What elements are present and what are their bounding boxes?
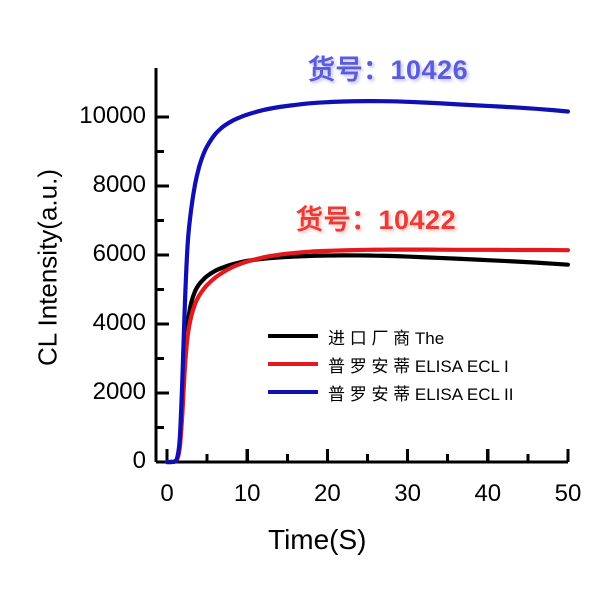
y-tick-label: 2000 — [46, 378, 146, 406]
y-tick-label: 0 — [46, 447, 146, 475]
chart-figure: CL Intensity(a.u.) Time(S) 0200040006000… — [0, 0, 600, 600]
x-tick-label: 40 — [458, 480, 518, 508]
x-tick-label: 20 — [297, 480, 357, 508]
x-tick-label: 30 — [378, 480, 438, 508]
legend-item-2: 普 罗 安 蒂 ELISA ECL I — [268, 350, 513, 378]
legend-swatch-icon — [268, 334, 318, 338]
x-tick-label: 10 — [217, 480, 277, 508]
legend-item-label: 普 罗 安 蒂 ELISA ECL II — [328, 380, 513, 405]
legend-swatch-icon — [268, 362, 318, 366]
x-axis-title: Time(S) — [268, 524, 367, 556]
annotation-blue-product-code: 货号：10426 — [308, 48, 468, 87]
legend-item-label: 进 口 厂 商 The — [328, 324, 444, 349]
legend-swatch-icon — [268, 390, 318, 394]
legend-item-1: 进 口 厂 商 The — [268, 322, 513, 350]
series-layer — [167, 101, 568, 462]
x-tick-label: 0 — [137, 480, 197, 508]
y-tick-label: 8000 — [46, 171, 146, 199]
annotation-red-product-code: 货号：10422 — [296, 198, 456, 237]
y-tick-label: 10000 — [46, 102, 146, 130]
y-tick-label: 4000 — [46, 309, 146, 337]
legend-item-label: 普 罗 安 蒂 ELISA ECL I — [328, 352, 509, 377]
y-tick-label: 6000 — [46, 240, 146, 268]
legend-item-3: 普 罗 安 蒂 ELISA ECL II — [268, 378, 513, 406]
chart-plot-area — [0, 0, 600, 600]
chart-legend: 进 口 厂 商 The普 罗 安 蒂 ELISA ECL I普 罗 安 蒂 EL… — [268, 322, 513, 406]
x-tick-label: 50 — [538, 480, 598, 508]
series-line-3 — [167, 101, 568, 462]
